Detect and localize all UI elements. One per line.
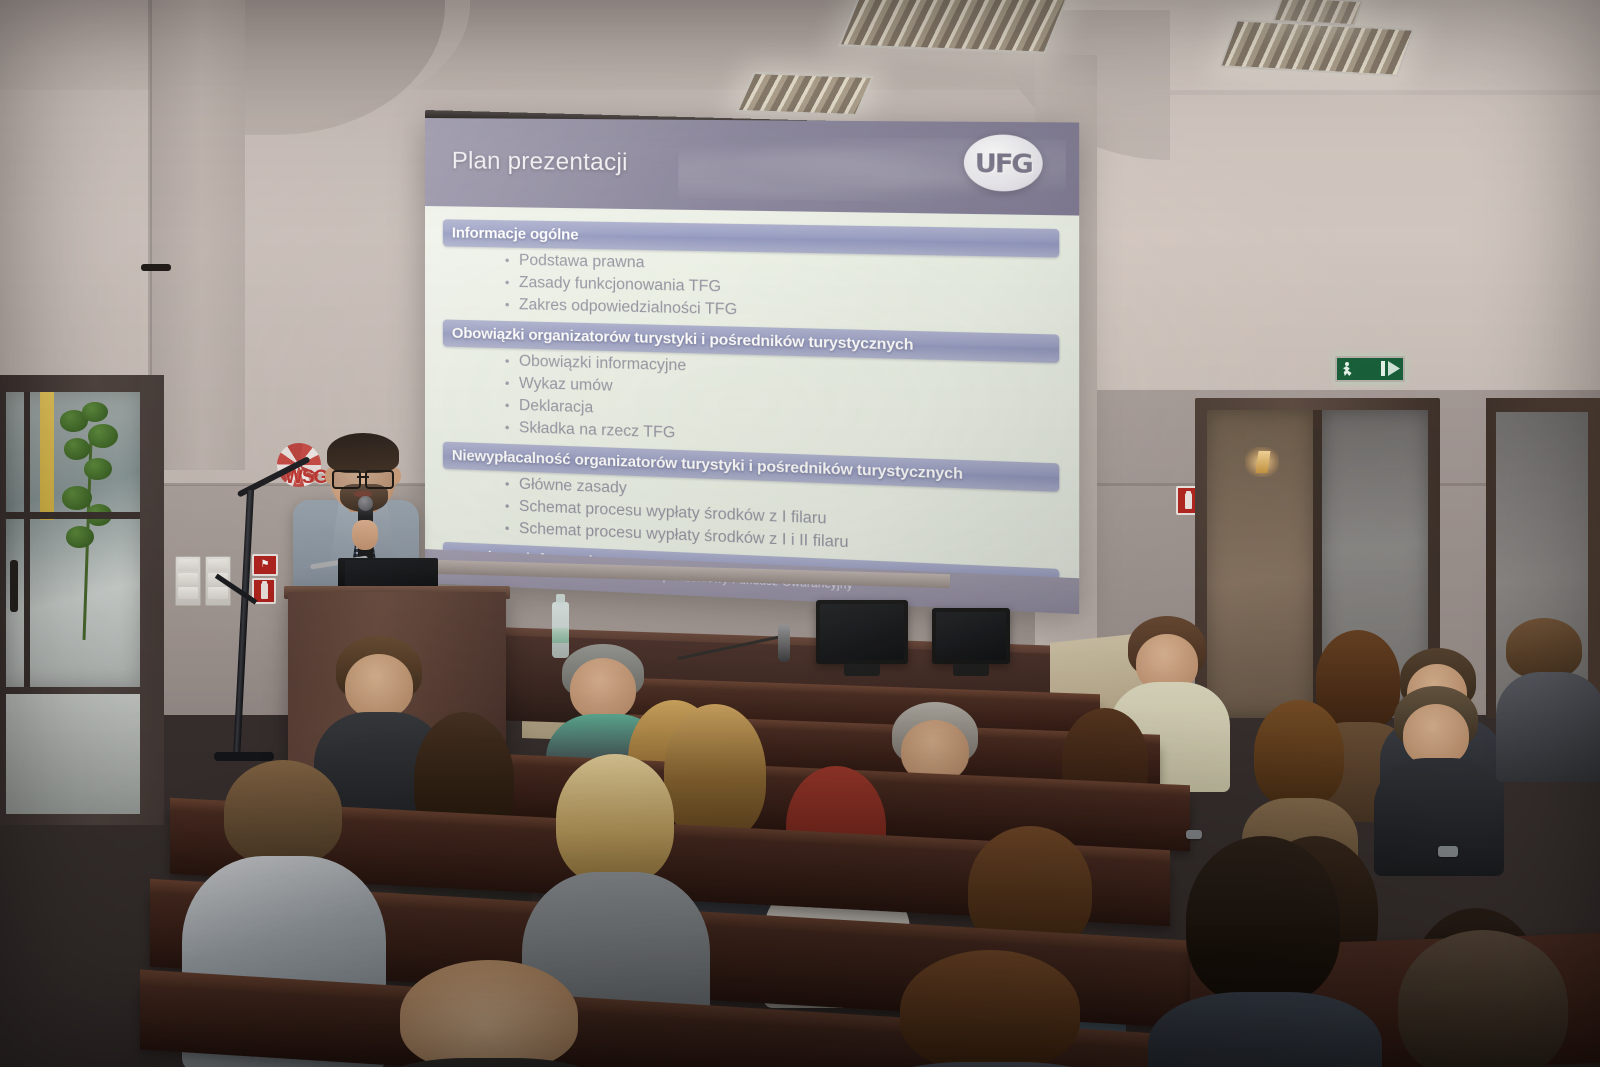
left-door-lower-pane — [6, 694, 140, 814]
slide-header-band: Plan prezentacji UFG — [425, 118, 1079, 216]
person-torso — [1496, 672, 1600, 782]
person-head — [1403, 704, 1469, 766]
person-hair — [400, 960, 578, 1067]
water-bottle — [552, 602, 569, 658]
laptop-screen — [345, 560, 433, 588]
door-sash — [6, 512, 140, 519]
ceiling-light-panel — [736, 72, 874, 116]
seat-armrest — [1438, 846, 1458, 857]
speaker-hair — [327, 433, 399, 473]
ufg-logo-text: UFG — [975, 147, 1032, 178]
person-hair — [664, 704, 766, 840]
projection-screen: Plan prezentacji UFG Informacje ogólne P… — [425, 118, 1079, 614]
desk-microphone — [778, 624, 790, 662]
potted-plant — [54, 400, 126, 640]
lecture-hall-photo: Plan prezentacji UFG Informacje ogólne P… — [0, 0, 1600, 1067]
slide-bullet-list: Obowiązki informacyjne Wykaz umów Deklar… — [425, 348, 1079, 459]
person-hair — [1186, 836, 1340, 1004]
fire-extinguisher-icon — [261, 583, 268, 599]
door-mullion — [24, 392, 30, 687]
plant-leaf — [62, 486, 92, 510]
exit-door-bar-icon — [1381, 361, 1385, 376]
section-heading-label: Informacje ogólne — [443, 224, 579, 243]
wall-sconce-light — [1245, 447, 1279, 477]
ceiling-light-panel — [1219, 19, 1415, 77]
person-hair — [1398, 930, 1568, 1067]
person-torso — [1374, 758, 1504, 876]
exit-arrow-icon — [1388, 361, 1400, 376]
plant-leaf — [82, 402, 108, 422]
right-wall-upper — [1095, 95, 1600, 395]
slide-bullet-list: Podstawa prawna Zasady funkcjonowania TF… — [425, 248, 1079, 330]
emergency-exit-sign — [1335, 356, 1405, 382]
eyeglasses-icon — [331, 470, 395, 486]
desk-monitor — [932, 608, 1010, 664]
fire-extinguisher-icon — [1185, 493, 1192, 509]
left-door-handle[interactable] — [10, 560, 18, 612]
desk-monitor — [816, 600, 908, 664]
person-head — [570, 658, 636, 720]
ceiling-light-panel — [838, 0, 1068, 54]
plant-leaf — [88, 424, 118, 448]
presentation-slide: Plan prezentacji UFG Informacje ogólne P… — [425, 118, 1079, 614]
slide-title: Plan prezentacji — [452, 147, 628, 177]
person-torso — [1148, 992, 1382, 1067]
running-person-icon — [1341, 361, 1357, 377]
plant-leaf — [64, 438, 90, 460]
ceiling-light-panel — [1272, 0, 1364, 26]
person-hair — [1506, 618, 1582, 678]
slide-body: Informacje ogólne Podstawa prawna Zasady… — [425, 206, 1079, 578]
left-door-glass — [6, 392, 140, 687]
ufg-logo: UFG — [964, 134, 1043, 192]
person-hair — [224, 760, 342, 864]
person-hair — [556, 754, 674, 884]
seat-armrest — [1186, 830, 1202, 839]
outside-yellow-post — [40, 392, 54, 520]
mic-stand-base — [214, 752, 274, 761]
fire-alarm-sign: ⚑ — [252, 554, 278, 576]
person-hair — [1254, 700, 1344, 806]
door-handle[interactable] — [141, 264, 171, 271]
person-hair — [900, 950, 1080, 1067]
speaker-hand — [352, 520, 378, 550]
plant-leaf — [66, 526, 94, 548]
arch-pillar-left — [150, 0, 245, 470]
person-head — [345, 654, 413, 718]
light-switch-plate[interactable] — [175, 556, 201, 606]
plant-leaf — [84, 458, 112, 480]
